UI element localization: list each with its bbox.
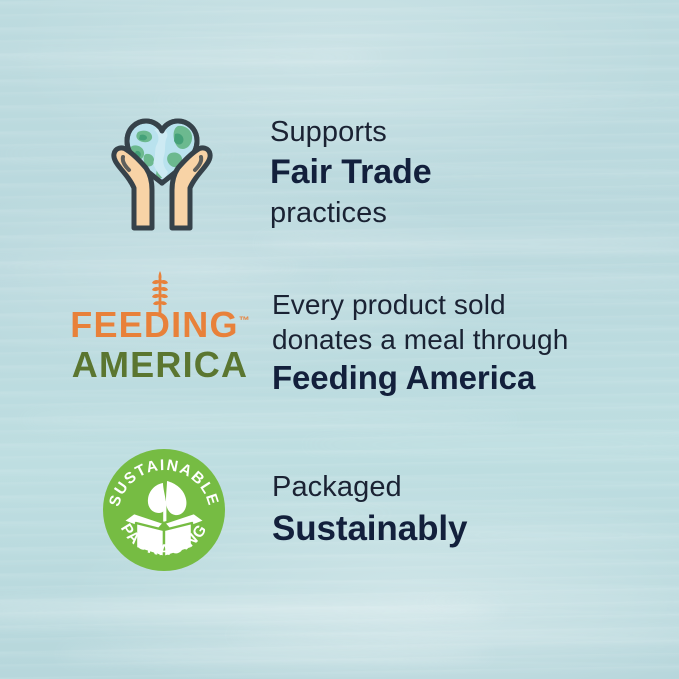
- promo-graphic: Supports Fair Trade practices: [0, 0, 679, 679]
- value-row-fair-trade-text: Supports Fair Trade practices: [232, 113, 652, 232]
- fair-trade-line-3: practices: [270, 194, 652, 232]
- feeding-word: FEEDING: [70, 304, 238, 345]
- sustainable-packaging-badge: SUSTAINABLE PACKAGING: [98, 447, 230, 573]
- fair-trade-line-2: Fair Trade: [270, 151, 652, 194]
- feeding-line-3: Feeding America: [272, 357, 662, 399]
- feeding-line-2: donates a meal through: [272, 322, 662, 357]
- feeding-america-wordmark-top: FEEDING™: [70, 301, 249, 345]
- feeding-america-wordmark-bottom: AMERICA: [72, 345, 248, 385]
- feeding-line-1: Every product sold: [272, 287, 662, 322]
- sustainable-line-2: Sustainably: [272, 506, 658, 552]
- value-row-feeding-america-text: Every product sold donates a meal throug…: [258, 287, 662, 399]
- fair-trade-line-1: Supports: [270, 113, 652, 151]
- value-row-sustainable-packaging-text: Packaged Sustainably: [230, 469, 658, 552]
- value-row-fair-trade: Supports Fair Trade practices: [92, 108, 652, 236]
- value-prop-list: Supports Fair Trade practices: [0, 0, 679, 679]
- value-row-feeding-america: FEEDING™ AMERICA Every product sold dona…: [62, 282, 662, 404]
- value-row-sustainable-packaging: SUSTAINABLE PACKAGING Packaged Sustainab…: [98, 440, 658, 580]
- hands-holding-heart-earth-icon: [92, 110, 232, 234]
- sustainable-line-1: Packaged: [272, 469, 658, 506]
- trademark-symbol: ™: [239, 315, 250, 327]
- feeding-america-logo: FEEDING™ AMERICA: [62, 301, 258, 385]
